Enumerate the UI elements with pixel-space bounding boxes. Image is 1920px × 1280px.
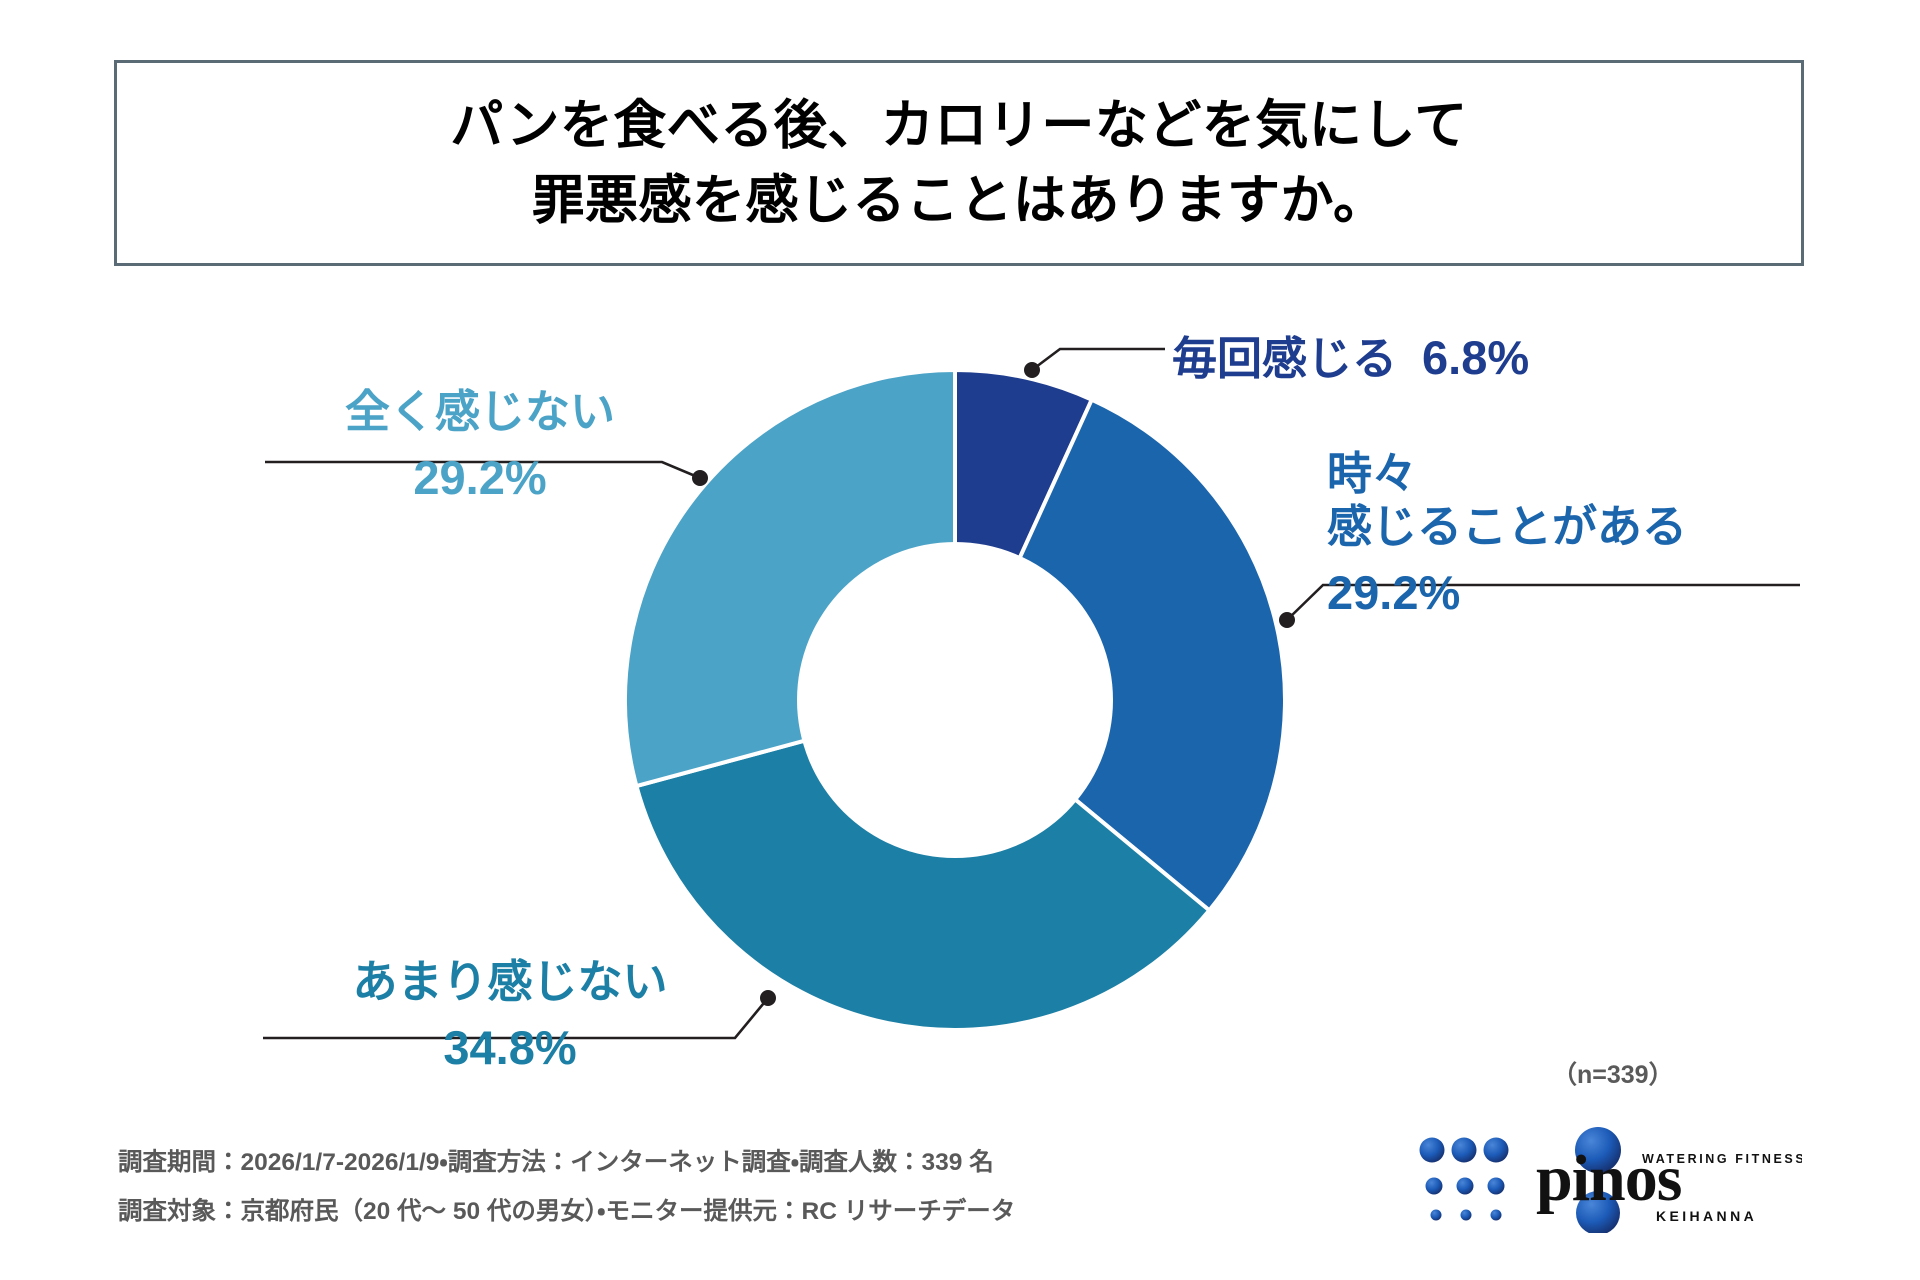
logo-location: KEIHANNA [1656,1208,1757,1224]
logo-tagline: WATERING FITNESS [1642,1152,1802,1166]
donut-chart [610,355,1300,1045]
slice-label-rarely-name: あまり感じない [305,955,715,1008]
slice-label-sometimes-name-line2: 感じることがある [1327,500,1797,553]
pinos-logo-svg: pinos WATERING FITNESS KEIHANNA [1412,1108,1802,1233]
slice-label-sometimes-name-line1: 時々 [1327,447,1797,500]
slice-label-every: 毎回感じる 6.8% [1172,330,1529,385]
survey-slide: パンを食べる後、カロリーなどを気にして 罪悪感を感じることはありますか。 毎回感… [0,0,1920,1280]
slice-label-every-name: 毎回感じる [1172,333,1397,384]
donut-chart-svg [610,355,1300,1045]
slice-label-sometimes: 時々 感じることがある 29.2% [1327,447,1797,621]
slice-label-never-name: 全く感じない [280,385,680,438]
donut-hole [797,542,1113,858]
slice-label-every-value: 6.8% [1422,331,1529,384]
pinos-logo: pinos WATERING FITNESS KEIHANNA [1412,1108,1802,1233]
slice-label-never: 全く感じない 29.2% [280,385,680,506]
slice-label-rarely: あまり感じない 34.8% [305,955,715,1076]
dot-grid-icon [1420,1138,1509,1221]
slice-label-sometimes-value: 29.2% [1327,565,1797,620]
sample-size-note: （n=339） [1552,1055,1674,1091]
title-box: パンを食べる後、カロリーなどを気にして 罪悪感を感じることはありますか。 [114,60,1804,266]
page-title: パンを食べる後、カロリーなどを気にして 罪悪感を感じることはありますか。 [450,88,1468,239]
slice-label-never-value: 29.2% [280,450,680,505]
slice-label-rarely-value: 34.8% [305,1020,715,1075]
survey-method-footer: 調査期間：2026/1/7-2026/1/9・調査方法：インターネット調査・調査… [118,1138,1015,1236]
